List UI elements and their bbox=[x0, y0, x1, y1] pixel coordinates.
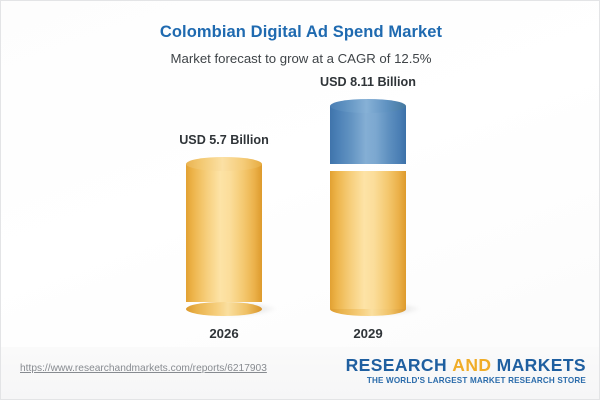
chart-footer: https://www.researchandmarkets.com/repor… bbox=[1, 347, 600, 399]
infographic-card: Colombian Digital Ad Spend Market Market… bbox=[0, 0, 600, 400]
source-url-link[interactable]: https://www.researchandmarkets.com/repor… bbox=[20, 363, 267, 374]
chart-plot-area: USD 5.7 Billion 2026 USD 8.11 Billion bbox=[1, 87, 600, 349]
cylinder-bottom-cap bbox=[186, 302, 262, 316]
brand-logo: RESEARCH AND MARKETS THE WORLD'S LARGEST… bbox=[346, 355, 586, 385]
chart-header: Colombian Digital Ad Spend Market Market… bbox=[1, 1, 600, 68]
bar-group-2026: USD 5.7 Billion 2026 bbox=[149, 87, 299, 349]
bar-segment-base-2026 bbox=[186, 157, 262, 309]
cylinder-body bbox=[330, 171, 406, 309]
bar-segment-growth-2029 bbox=[330, 99, 406, 171]
category-label-2029: 2029 bbox=[293, 326, 443, 341]
cylinder-body bbox=[330, 106, 406, 164]
cylinder-body bbox=[186, 164, 262, 302]
bar-group-2029: USD 8.11 Billion 2029 bbox=[293, 87, 443, 349]
brand-word-and: AND bbox=[452, 355, 491, 375]
bar-value-label-2026: USD 5.7 Billion bbox=[149, 133, 299, 147]
brand-tagline: THE WORLD'S LARGEST MARKET RESEARCH STOR… bbox=[346, 376, 586, 385]
brand-wordmark: RESEARCH AND MARKETS bbox=[346, 355, 586, 375]
brand-word-research: RESEARCH bbox=[346, 355, 447, 375]
chart-subtitle: Market forecast to grow at a CAGR of 12.… bbox=[1, 50, 600, 68]
bar-segment-base-2029 bbox=[330, 171, 406, 309]
bar-value-label-2029: USD 8.11 Billion bbox=[293, 75, 443, 89]
cylinder-top-ellipse bbox=[330, 99, 406, 113]
brand-word-markets: MARKETS bbox=[497, 355, 586, 375]
category-label-2026: 2026 bbox=[149, 326, 299, 341]
page-title: Colombian Digital Ad Spend Market bbox=[1, 21, 600, 43]
